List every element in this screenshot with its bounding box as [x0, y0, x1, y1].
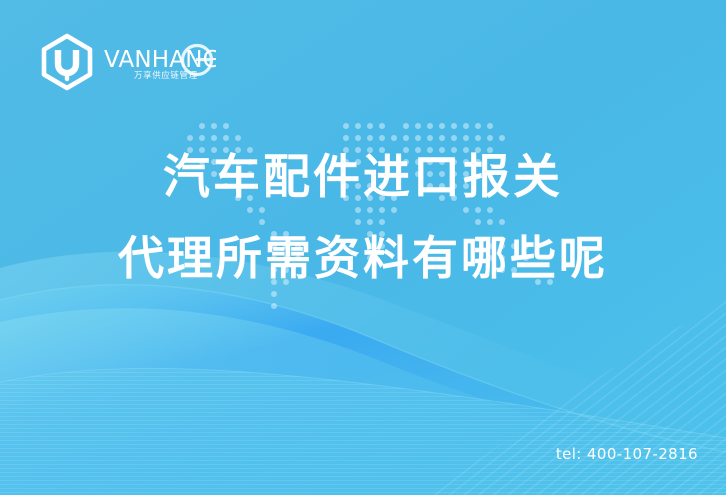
wordmark-text: VANHANG [104, 47, 216, 73]
brand-wordmark: VANHANG 万享供应链管理 [104, 40, 216, 84]
headline-line-1: 汽车配件进口报关 [0, 148, 726, 208]
headline-line-2: 代理所需资料有哪些呢 [0, 228, 726, 288]
promo-banner: VANHANG 万享供应链管理 汽车配件进口报关 代理所需资料有哪些呢 tel:… [0, 0, 726, 495]
headline-block: 汽车配件进口报关 代理所需资料有哪些呢 [0, 148, 726, 288]
wordmark-subtitle: 万享供应链管理 [134, 70, 198, 81]
vanhang-hexagon-icon [38, 33, 96, 91]
contact-phone[interactable]: tel: 400-107-2816 [556, 445, 698, 463]
brand-logo[interactable]: VANHANG 万享供应链管理 [38, 32, 218, 92]
